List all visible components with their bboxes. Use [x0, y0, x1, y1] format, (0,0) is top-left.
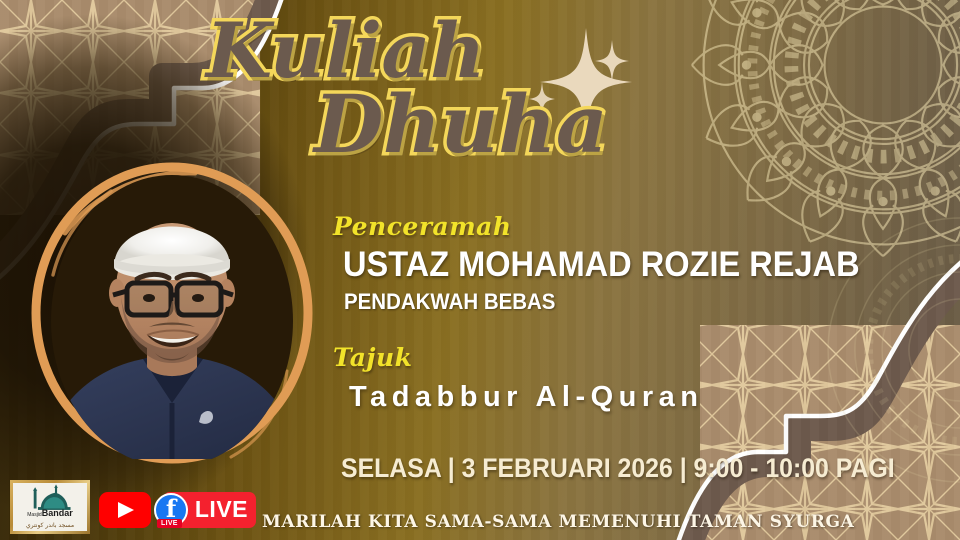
logo-name-small: Masjid	[27, 512, 41, 518]
logo-name-main: Bandar	[42, 508, 73, 518]
title-line-dhuha: Dhuha	[186, 88, 706, 162]
mosque-logo: MasjidBandar مسجد باندر كونتري	[10, 480, 90, 534]
event-details: Penceramah USTAZ MOHAMAD ROZIE REJAB PEN…	[333, 212, 933, 484]
topic-title: Tadabbur Al-Quran	[349, 381, 933, 414]
speaker-photo	[51, 171, 293, 459]
event-datetime: SELASA | 3 FEBRUARI 2026 | 9:00 - 10:00 …	[341, 453, 886, 484]
youtube-button[interactable]	[99, 492, 151, 528]
speaker-role: PENDAKWAH BEBAS	[344, 289, 892, 315]
facebook-live-label: LIVE	[195, 497, 248, 522]
poster-canvas: Kuliah Dhuha	[0, 0, 960, 540]
play-icon	[118, 502, 134, 518]
live-badge: LIVE	[157, 519, 182, 528]
speaker-label: Penceramah	[333, 212, 933, 241]
poster-tagline: MARILAH KITA SAMA-SAMA MEMENUHI TAMAN SY…	[262, 512, 854, 532]
poster-title: Kuliah Dhuha	[186, 16, 706, 162]
facebook-f-glyph: f	[156, 496, 186, 521]
speaker-portrait	[33, 163, 311, 463]
title-line-kuliah: Kuliah	[186, 16, 706, 86]
facebook-live-button[interactable]: f LIVE LIVE	[163, 492, 256, 528]
speaker-name: USTAZ MOHAMAD ROZIE REJAB	[343, 245, 892, 285]
logo-jawi-text: مسجد باندر كونتري	[13, 522, 87, 529]
topic-label: Tajuk	[333, 343, 933, 372]
logo-wordmark: MasjidBandar	[13, 509, 87, 518]
